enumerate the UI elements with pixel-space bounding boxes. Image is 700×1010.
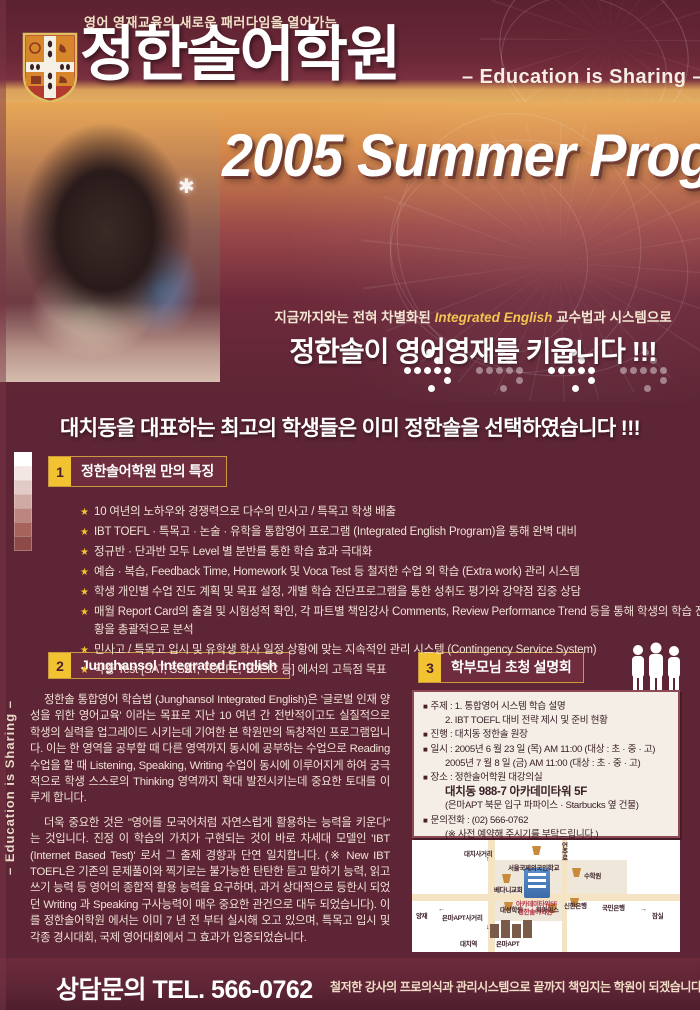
map-label: 대치역 (460, 938, 477, 948)
header: 영어 영재교육의 새로운 패러다임을 열어가는 정한솔어학원 – Educati… (0, 0, 700, 102)
banner-title: 2005 Summer Program (222, 124, 659, 188)
seminar-info-box: ■주제 : 1. 통합영어 시스템 학습 설명 2. IBT TOEFL 대비 … (412, 690, 680, 838)
swatch (14, 522, 32, 537)
swatch (14, 466, 32, 481)
banner-subtitle: 지금까지와는 전혀 차별화된 Integrated English 교수법과 시… (258, 306, 688, 326)
seminar-topic-2-row: 2. IBT TOEFL 대비 전략 제시 및 준비 현황 (423, 714, 669, 728)
footer-bar: 상담문의 TEL. 566-0762 철저한 강사의 프로의식과 관리시스템으로… (0, 958, 700, 1010)
seminar-place-label: 장소 (431, 772, 448, 783)
page-headline: 대치동을 대표하는 최고의 학생들은 이미 정한솔을 선택하였습니다 !!! (0, 412, 700, 442)
list-item: 정규반 · 단과반 모두 Level 별 분반를 통한 학습 효과 극대화 (80, 544, 700, 562)
map-label: 베다니교회 (494, 884, 522, 894)
map-label: 서울국제외국인학교 (508, 862, 559, 872)
map-label: 국민은행 (602, 902, 625, 912)
tower-icon (524, 868, 550, 898)
list-item: 학생 개인별 수업 진도 계획 및 목표 설정, 개별 학습 진단프로그램을 통… (80, 584, 700, 602)
left-edge-strip (0, 0, 6, 1010)
apartment-icon (490, 924, 499, 938)
color-swatch-strip (14, 452, 30, 550)
list-item: 매월 Report Card의 출결 및 시험성적 확인, 각 파트별 책임강사… (80, 604, 700, 639)
seminar-place-row: ■장소 : 정한솔어학원 대강의실 (423, 771, 669, 785)
poster: 영어 영재교육의 새로운 패러다임을 열어가는 정한솔어학원 – Educati… (0, 0, 700, 1010)
section-number: 1 (49, 457, 71, 486)
student-photo: ✱ (0, 102, 220, 382)
list-item: 10 여년의 노하우와 경쟁력으로 다수의 민사고 / 특목고 학생 배출 (80, 504, 700, 522)
footer-note: 철저한 강사의 프로의식과 관리시스템으로 끝까지 책임지는 학원이 되겠습니다… (330, 978, 700, 995)
swatch (14, 480, 32, 495)
map-arrow-north: ↑ (486, 856, 490, 863)
seminar-topic-label: 주제 (431, 701, 448, 712)
seminar-host-value: 대치동 정한솔 원장 (455, 729, 528, 740)
brand-name-ko: 정한솔어학원 (80, 24, 399, 86)
bullet-square-icon: ■ (423, 745, 428, 754)
bullet-square-icon: ■ (423, 702, 428, 711)
seminar-date-label: 일시 (431, 744, 448, 755)
integrated-english-description: 정한솔 통합영어 학습법 (Junghansol Integrated Engl… (30, 692, 390, 954)
list-item: 각종 Test [SAT, SSAT, TOEFL, TOEIC 등] 에서의 … (80, 662, 700, 680)
list-item: 민사고 / 특목고 입시 및 유학생 학사 일정 상황에 맞는 지속적인 관리 … (80, 642, 700, 660)
brand-slogan-en: – Education is Sharing – (462, 66, 700, 89)
seminar-topic-1: 1. 통합영어 시스템 학습 설명 (455, 701, 566, 712)
seminar-host-label: 진행 (431, 729, 448, 740)
seminar-date-1: 2005년 6 월 23 일 (목) AM 11:00 (대상 : 초 · 중 … (455, 744, 655, 755)
seminar-place-1: 정한솔어학원 대강의실 (455, 772, 543, 783)
swatch (14, 452, 32, 467)
seminar-phone-value[interactable]: (02) 566-0762 (472, 815, 528, 826)
apartment-icon (501, 920, 510, 938)
banner-subtitle-emphasis: Integrated English (435, 310, 553, 325)
paragraph: 더욱 중요한 것은 "영어를 모국어처럼 자연스럽게 활용하는 능력을 키운다"… (30, 815, 390, 946)
section-label: 정한솔어학원 만의 특징 (71, 457, 226, 486)
sparkle-icon: ✱ (178, 174, 195, 199)
banner-subtitle-post: 교수법과 시스템으로 (556, 310, 672, 325)
apartment-icon (523, 920, 532, 938)
map-label: 잠실 (652, 910, 663, 920)
map-arrow-south: ↓ (486, 924, 490, 931)
list-item: 예습 · 복습, Feedback Time, Homework 및 Voca … (80, 564, 700, 582)
map-label: 수학원 (584, 870, 601, 880)
swatch (14, 494, 32, 509)
bullet-square-icon: ■ (423, 773, 428, 782)
map-highlight-academy: 정한솔어학원 (518, 906, 552, 916)
banner-subtitle-pre: 지금까지와는 전혀 차별화된 (274, 310, 431, 325)
list-item: IBT TOEFL · 특목고 · 논술 · 유학을 통합영어 프로그램 (In… (80, 524, 700, 542)
paragraph: 정한솔 통합영어 학습법 (Junghansol Integrated Engl… (30, 692, 390, 807)
map-label: 언주로 (558, 842, 568, 861)
map-arrow-west: ← (438, 906, 445, 913)
bullet-square-icon: ■ (423, 730, 428, 739)
seminar-place-3: (은마APT 북문 입구 파파이스 · Starbucks 옆 건물) (423, 799, 669, 813)
map-label: 은마APT사거리 (442, 912, 483, 922)
seminar-place-2: 대치동 988-7 아카데미타워 5F (423, 785, 669, 799)
seminar-host-row: ■진행 : 대치동 정한솔 원장 (423, 728, 669, 742)
seminar-date-row: ■일시 : 2005년 6 월 23 일 (목) AM 11:00 (대상 : … (423, 743, 669, 757)
feature-list: 10 여년의 노하우와 경쟁력으로 다수의 민사고 / 특목고 학생 배출 IB… (40, 504, 700, 682)
banner-main-message: 정한솔이 영어영재를 키웁니다 !!! (258, 330, 688, 370)
building-icon (532, 846, 541, 855)
section-header-1: 1 정한솔어학원 만의 특징 (48, 456, 227, 487)
seminar-phone-row[interactable]: ■문의전화 : (02) 566-0762 (423, 814, 669, 828)
seminar-topic-row: ■주제 : 1. 통합영어 시스템 학습 설명 (423, 700, 669, 714)
swatch (14, 536, 32, 551)
map-label: 신한은행 (564, 900, 587, 910)
map-label: 은마APT (496, 938, 519, 948)
crest-icon (22, 32, 78, 102)
location-map[interactable]: 대치사거리 서울국제외국인학교 언주로 베다니교회 수학원 신한은행 국민은행 … (412, 840, 680, 952)
map-arrow-east: → (640, 906, 647, 913)
family-silhouette-icon (626, 642, 690, 696)
seminar-phone-label: 문의전화 (431, 815, 465, 826)
footer-telephone[interactable]: 상담문의 TEL. 566-0762 (56, 970, 313, 1006)
apartment-icon (512, 924, 521, 938)
map-label: 양재 (416, 910, 427, 920)
photo-glow (0, 302, 220, 382)
bullet-square-icon: ■ (423, 816, 428, 825)
swatch (14, 508, 32, 523)
seminar-date-2: 2005년 7 월 8 일 (금) AM 11:00 (대상 : 초 · 중 ·… (423, 757, 669, 771)
